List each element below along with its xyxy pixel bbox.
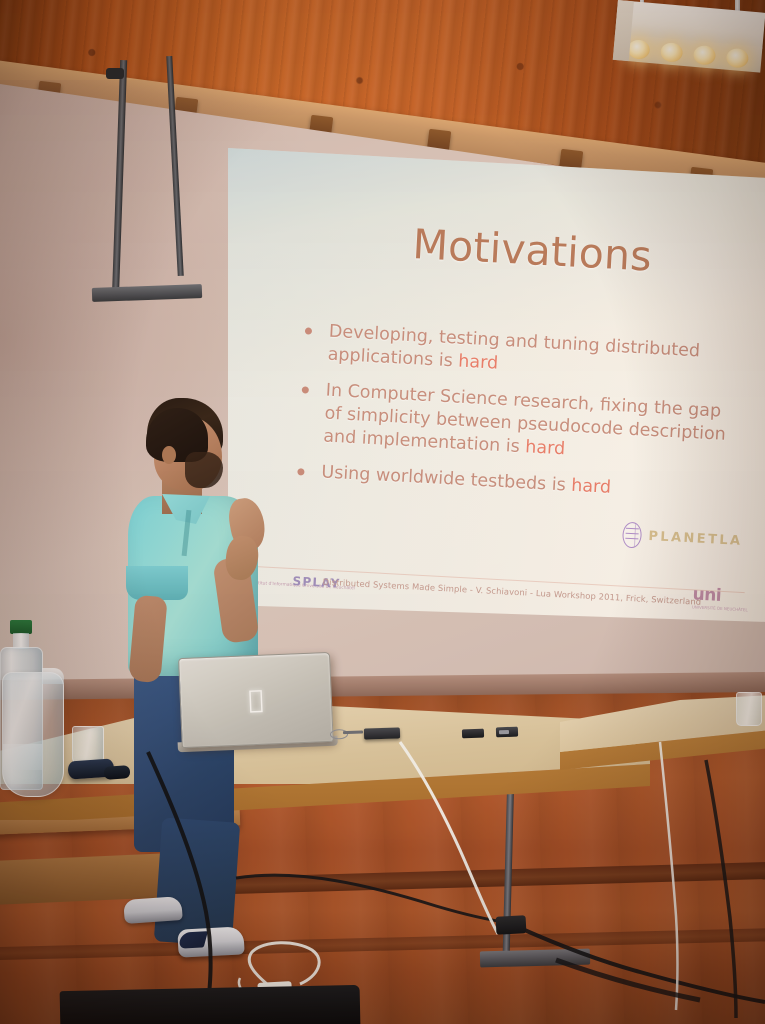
projection-screen: Motivations Developing, testing and tuni… <box>228 140 765 622</box>
footer-credit-text: Distributed Systems Made Simple - V. Sch… <box>322 577 701 607</box>
bullet-text: Developing, testing and tuning distribut… <box>327 322 700 372</box>
presenter-shoe <box>177 926 244 957</box>
light-bulb <box>659 41 683 62</box>
bullet-dot-icon <box>305 327 312 334</box>
apple-logo-icon:  <box>244 688 267 715</box>
table-height-knob <box>106 68 124 79</box>
unine-logo: uni UNIVERSITÉ DE NEUCHÂTEL <box>692 584 749 613</box>
glass-carafe <box>2 672 64 797</box>
slide-bullet: Using worldwide testbeds is hard <box>295 460 726 506</box>
bottle-cap <box>10 620 32 634</box>
keyring <box>330 725 364 740</box>
presenter-ear <box>162 446 176 464</box>
power-brick <box>496 915 527 935</box>
planetlab-label: PLANETLA <box>648 528 743 548</box>
slide-bullet: Developing, testing and tuning distribut… <box>301 319 733 388</box>
bullet-dot-icon <box>297 468 304 475</box>
foreground-monitor-edge <box>60 985 361 1024</box>
slide-bullet-list: Developing, testing and tuning distribut… <box>294 319 733 518</box>
usb-stick <box>462 729 484 739</box>
light-bulb <box>692 44 716 65</box>
table-foot <box>480 949 590 968</box>
presenter-remote-tip <box>104 765 131 780</box>
bullet-highlight: hard <box>571 475 612 497</box>
presenter-sleeve <box>126 566 188 600</box>
presenter-beard <box>185 452 223 488</box>
pendant-light <box>612 0 765 81</box>
light-bulb <box>725 47 749 68</box>
photo-scene: Motivations Developing, testing and tuni… <box>0 0 765 1024</box>
mobile-phone <box>364 727 400 739</box>
carafe-spout <box>42 668 64 684</box>
carafe-body <box>2 672 64 797</box>
usb-stick <box>496 727 518 738</box>
globe-icon <box>622 522 642 549</box>
bullet-text: Using worldwide testbeds is <box>321 462 572 495</box>
drinking-glass <box>72 726 104 764</box>
presenter-shoe <box>123 896 183 924</box>
slide-bullet: In Computer Science research, fixing the… <box>297 378 730 470</box>
bullet-highlight: hard <box>525 437 566 459</box>
laptop-lid:  <box>178 652 334 748</box>
bullet-dot-icon <box>302 386 309 393</box>
planetlab-logo: PLANETLA <box>622 520 743 556</box>
bullet-highlight: hard <box>458 352 499 374</box>
slide-title: Motivations <box>411 220 653 281</box>
side-table-right <box>560 694 765 814</box>
drinking-glass <box>736 692 762 726</box>
macbook-pro:  <box>178 652 334 753</box>
